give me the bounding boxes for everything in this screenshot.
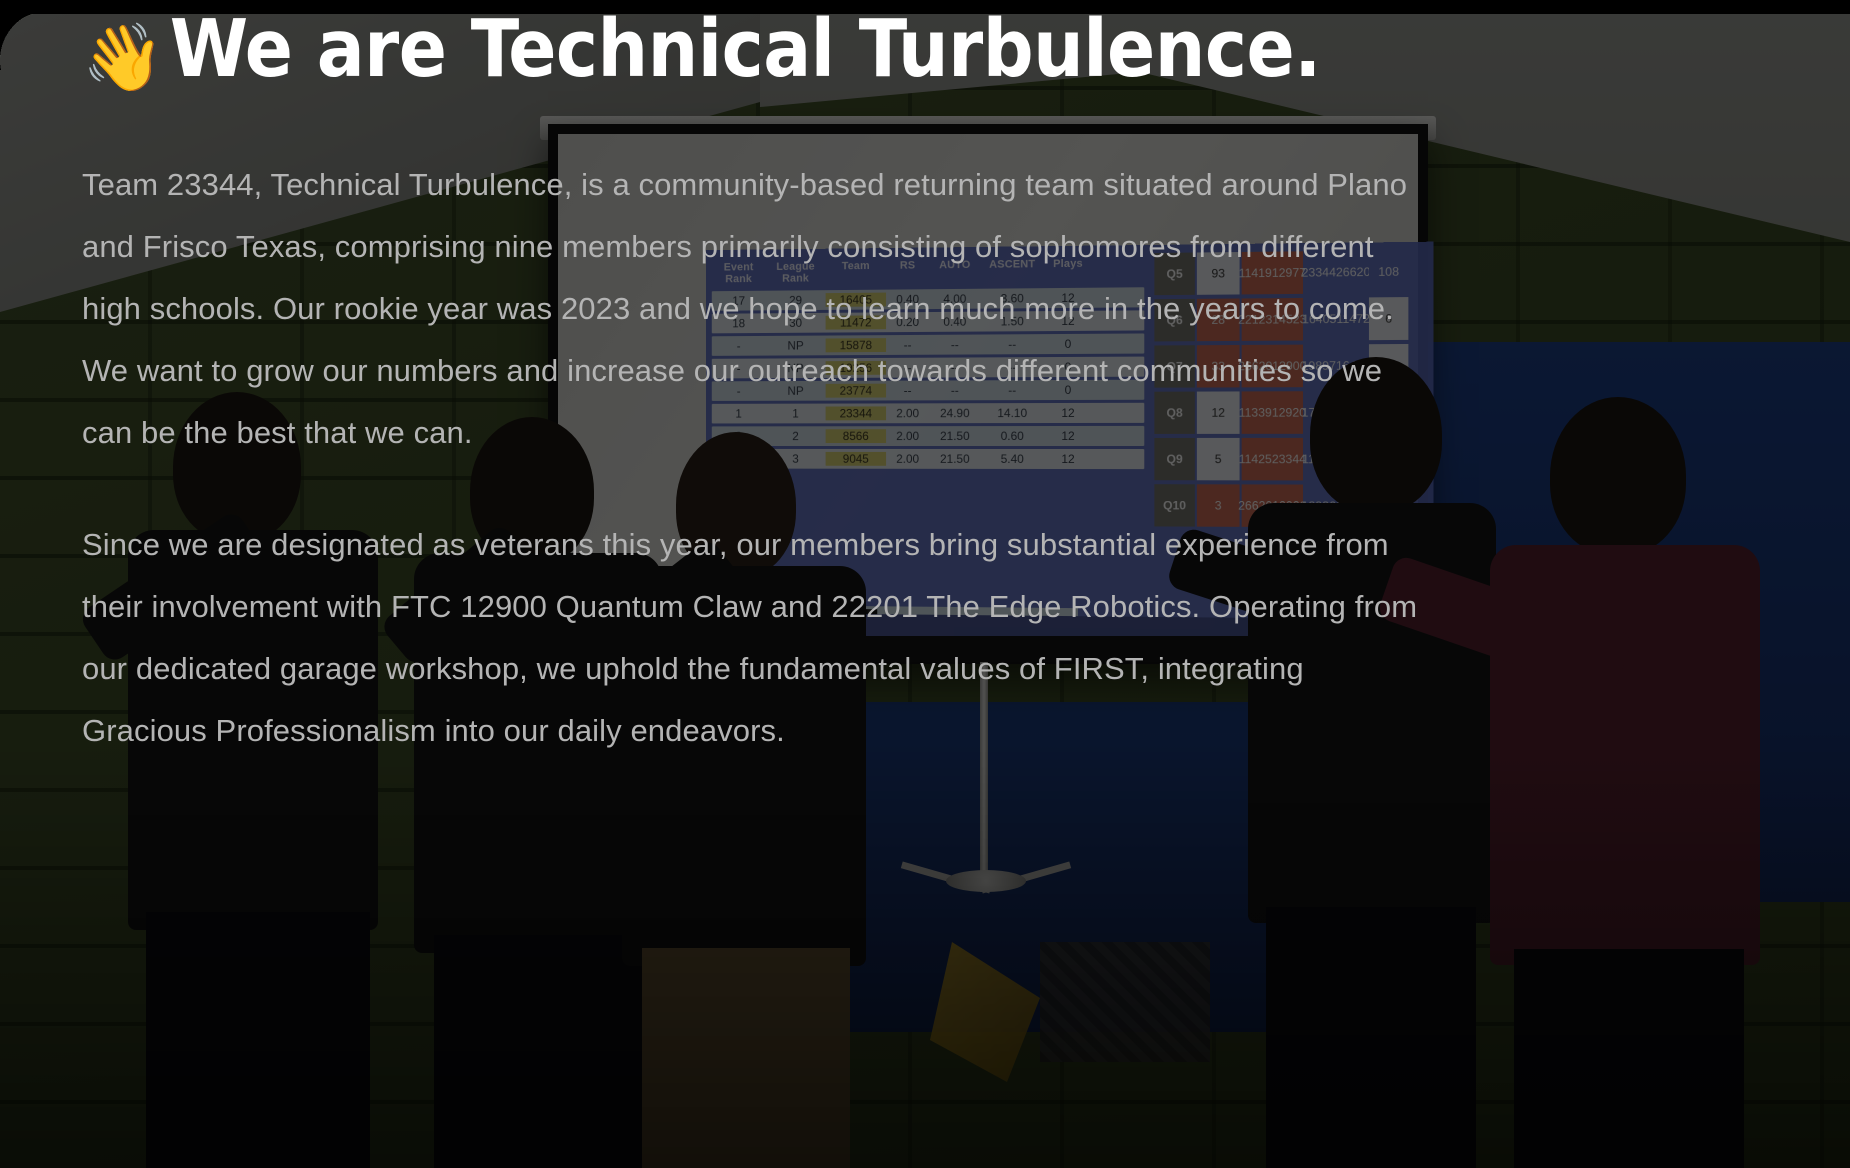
about-paragraph-1: Team 23344, Technical Turbulence, is a c…: [82, 154, 1422, 464]
hero-content: 👋We are Technical Turbulence. Team 23344…: [82, 0, 1422, 762]
page-title: 👋We are Technical Turbulence.: [82, 0, 1422, 114]
hero-page: Event Rank League Rank Team RS AUTO ASCE…: [0, 0, 1850, 1168]
about-paragraph-2: Since we are designated as veterans this…: [82, 514, 1422, 762]
frame-corner-top-left: [0, 10, 60, 70]
page-title-text: We are Technical Turbulence.: [170, 3, 1321, 95]
bottom-gradient-overlay: [0, 748, 1850, 1168]
frame-top-edge: [0, 0, 1850, 14]
waving-hand-icon: 👋: [82, 19, 164, 96]
